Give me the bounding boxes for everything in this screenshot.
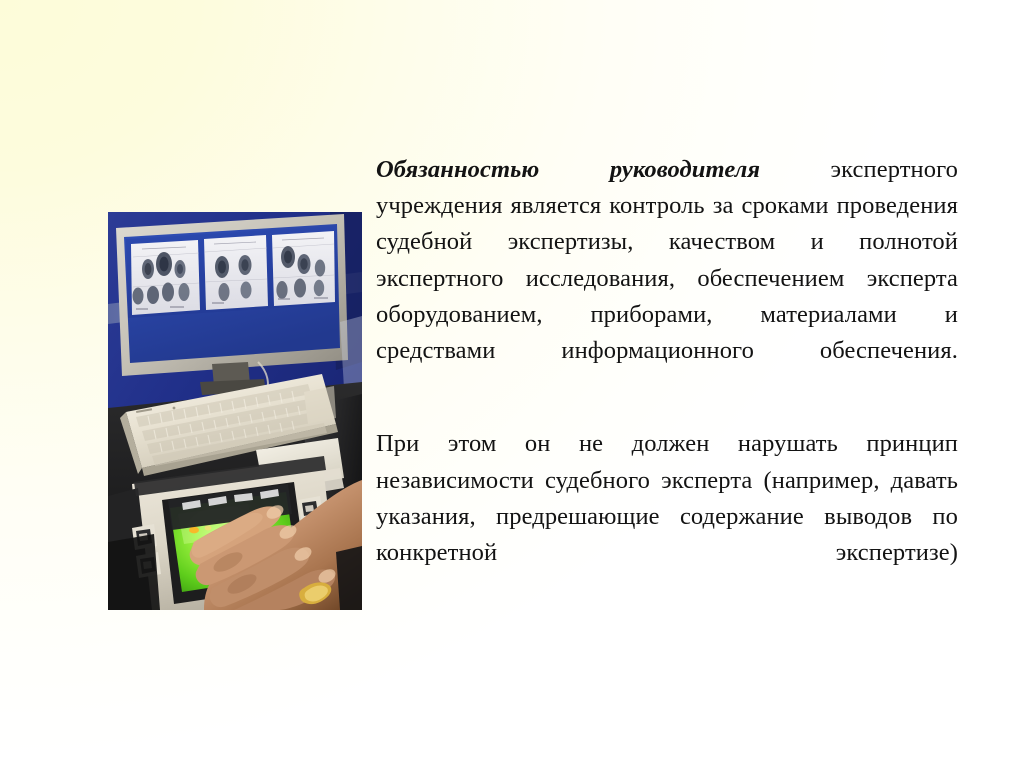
paragraph-duties-of-head: Обязанностью руководителя экспертного уч… [376, 152, 958, 405]
photo-illustration [108, 212, 362, 610]
slide-canvas: Обязанностью руководителя экспертного уч… [0, 0, 1024, 768]
fingerprint-card-2 [204, 235, 268, 310]
paragraph-1-body: экспертного учреждения является контроль… [376, 156, 958, 364]
scanner-indicator-led [189, 527, 199, 534]
slide-text-body: Обязанностью руководителя экспертного уч… [376, 152, 958, 607]
paragraph-expert-independence: При этом он не должен нарушать принцип н… [376, 426, 958, 607]
fingerprint-cards [131, 231, 335, 315]
fingerprint-card-1 [131, 240, 200, 315]
lead-phrase: Обязанностью руководителя [376, 156, 760, 183]
fingerprint-station-photo [108, 212, 362, 610]
